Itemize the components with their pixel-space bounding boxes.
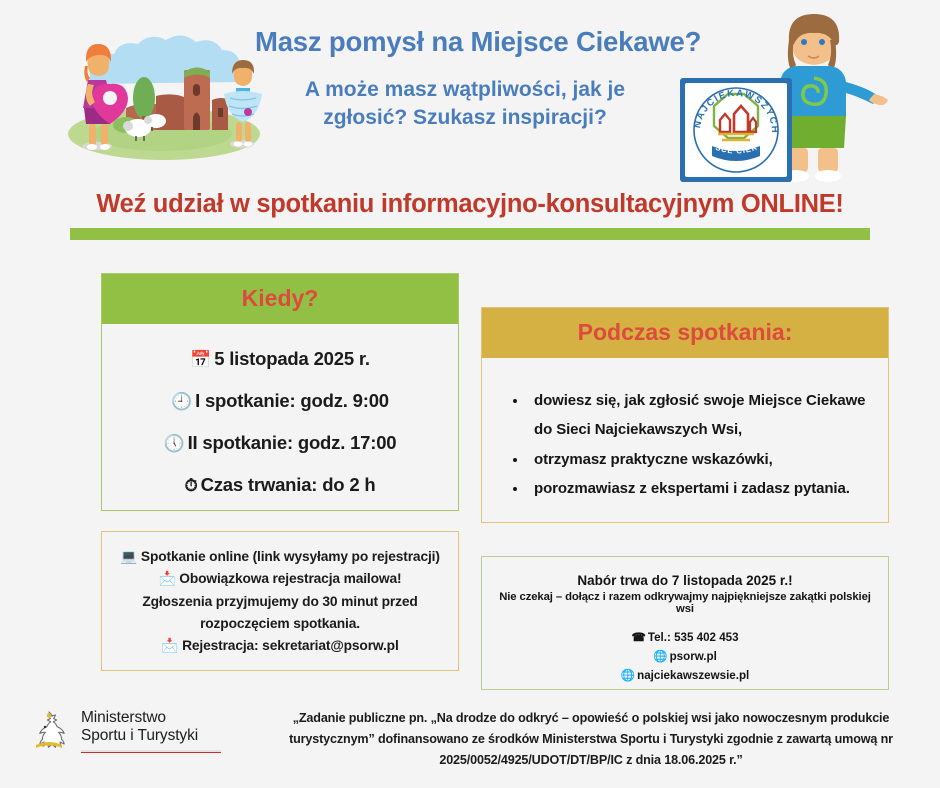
ministry-line-2: Sportu i Turystyki xyxy=(81,727,221,745)
laptop-icon: 💻 xyxy=(120,549,137,564)
online-line-3: Zgłoszenia przyjmujemy do 30 minut przed… xyxy=(114,591,446,636)
calendar-icon: 📅 xyxy=(190,350,211,369)
card-when-title: Kiedy? xyxy=(242,285,319,311)
polish-eagle-icon xyxy=(26,705,72,757)
boy-with-badge-illustration: SIEĆ · NAJCIEKAWSZYCH · WSI MIEJSCE CIEK… xyxy=(668,6,940,188)
contact-website-2-text[interactable]: najciekawszewsie.pl xyxy=(637,669,749,682)
ministry-divider xyxy=(81,750,221,753)
card-agenda: Podczas spotkania: dowiesz się, jak zgło… xyxy=(481,307,889,523)
when-session1-text: I spotkanie: godz. 9:00 xyxy=(195,390,389,411)
card-online-info: 💻 Spotkanie online (link wysyłamy po rej… xyxy=(101,531,459,671)
poster-root: Masz pomysł na Miejsce Ciekawe? A może m… xyxy=(0,0,940,788)
list-item: 📅5 listopada 2025 r. xyxy=(114,348,446,370)
card-when: Kiedy? 📅5 listopada 2025 r. 🕘I spotkanie… xyxy=(101,273,459,511)
when-session2-text: II spotkanie: godz. 17:00 xyxy=(188,432,397,453)
online-line-1: 💻 Spotkanie online (link wysyłamy po rej… xyxy=(114,546,446,568)
card-agenda-header: Podczas spotkania: xyxy=(482,308,888,358)
ministry-logo: Ministerstwo Sportu i Turystyki xyxy=(26,705,221,757)
footer: Ministerstwo Sportu i Turystyki „Zadanie… xyxy=(0,700,940,788)
ministry-wordmark: Ministerstwo Sportu i Turystyki xyxy=(81,709,221,753)
stopwatch-icon: ⏱ xyxy=(185,476,198,495)
network-badge: SIEĆ · NAJCIEKAWSZYCH · WSI MIEJSCE CIEK… xyxy=(668,6,792,182)
headline-section: Weź udział w spotkaniu informacyjno-kons… xyxy=(0,190,940,240)
list-item: ⏱Czas trwania: do 2 h xyxy=(114,474,446,496)
list-item: 🕔II spotkanie: godz. 17:00 xyxy=(114,432,446,454)
clock-five-icon: 🕔 xyxy=(164,434,185,453)
list-item: dowiesz się, jak zgłosić swoje Miejsce C… xyxy=(528,386,870,445)
contact-phone-text: Tel.: 535 402 453 xyxy=(648,631,739,644)
online-line-2: 📩 Obowiązkowa rejestracja mailowa! xyxy=(114,568,446,590)
page-subtitle: A może masz wątpliwości, jak je zgłosić?… xyxy=(255,76,675,133)
when-date-text: 5 listopada 2025 r. xyxy=(214,348,370,369)
online-meeting-text: Spotkanie online (link wysyłamy po rejes… xyxy=(141,549,440,564)
card-agenda-body: dowiesz się, jak zgłosić swoje Miejsce C… xyxy=(482,358,888,517)
call-to-action-text: Nie czekaj – dołącz i razem odkrywajmy n… xyxy=(494,591,876,615)
when-details-list: 📅5 listopada 2025 r. 🕘I spotkanie: godz.… xyxy=(114,338,446,496)
contact-website-1-text[interactable]: psorw.pl xyxy=(670,650,717,663)
globe-icon: 🌐 xyxy=(653,650,667,663)
list-item: 🕘I spotkanie: godz. 9:00 xyxy=(114,390,446,412)
card-contact: Nabór trwa do 7 listopada 2025 r.! Nie c… xyxy=(481,556,889,690)
mandatory-registration-text: Obowiązkowa rejestracja mailowa! xyxy=(179,571,401,586)
card-when-body: 📅5 listopada 2025 r. 🕘I spotkanie: godz.… xyxy=(102,324,458,530)
online-line-4: 📩 Rejestracja: sekretariat@psorw.pl xyxy=(114,635,446,657)
page-title: Masz pomysł na Miejsce Ciekawe? xyxy=(255,26,675,58)
header-titles: Masz pomysł na Miejsce Ciekawe? A może m… xyxy=(255,26,675,132)
list-item: porozmawiasz z ekspertami i zadasz pytan… xyxy=(528,474,870,503)
envelope-icon: 📩 xyxy=(159,571,176,586)
card-agenda-title: Podczas spotkania: xyxy=(578,319,793,345)
contact-phone: ☎Tel.: 535 402 453 xyxy=(494,629,876,648)
headline-divider xyxy=(70,228,870,240)
village-illustration xyxy=(52,22,282,172)
list-item: otrzymasz praktyczne wskazówki, xyxy=(528,445,870,474)
contact-website-1[interactable]: 🌐psorw.pl xyxy=(494,648,876,667)
when-duration-text: Czas trwania: do 2 h xyxy=(201,474,376,495)
agenda-bullet-list: dowiesz się, jak zgłosić swoje Miejsce C… xyxy=(494,372,876,503)
ministry-line-1: Ministerstwo xyxy=(81,709,221,727)
registration-email-text[interactable]: Rejestracja: sekretariat@psorw.pl xyxy=(182,638,399,653)
header: Masz pomysł na Miejsce Ciekawe? A może m… xyxy=(0,0,940,186)
funding-disclaimer: „Zadanie publiczne pn. „Na drodze do odk… xyxy=(262,708,920,770)
clock-nine-icon: 🕘 xyxy=(171,392,192,411)
telephone-icon: ☎ xyxy=(631,631,645,644)
deadline-text: Nabór trwa do 7 listopada 2025 r.! xyxy=(494,573,876,588)
envelope-icon: 📩 xyxy=(161,638,178,653)
headline-text: Weź udział w spotkaniu informacyjno-kons… xyxy=(0,190,940,219)
contact-list: ☎Tel.: 535 402 453 🌐psorw.pl 🌐najciekaws… xyxy=(494,629,876,685)
contact-website-2[interactable]: 🌐najciekawszewsie.pl xyxy=(494,667,876,686)
globe-icon: 🌐 xyxy=(621,669,635,682)
card-when-header: Kiedy? xyxy=(102,274,458,324)
